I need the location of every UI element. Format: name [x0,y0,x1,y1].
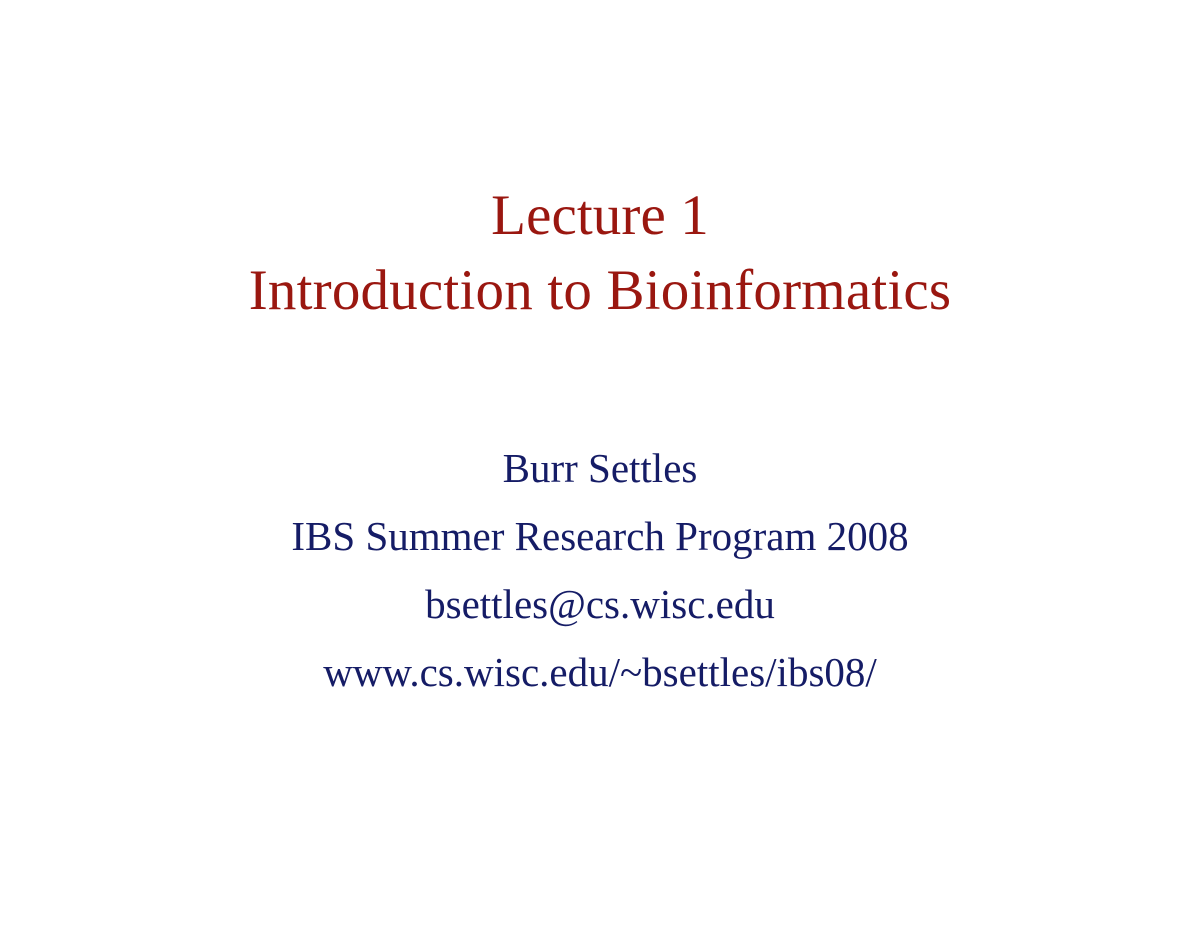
presentation-slide: Lecture 1 Introduction to Bioinformatics… [0,0,1200,927]
slide-body: Burr Settles IBS Summer Research Program… [0,434,1200,706]
title-line-lecture-number: Lecture 1 [0,178,1200,253]
author-email: bsettles@cs.wisc.edu [0,570,1200,638]
title-line-subject: Introduction to Bioinformatics [0,253,1200,328]
program-affiliation: IBS Summer Research Program 2008 [0,502,1200,570]
course-website-url: www.cs.wisc.edu/~bsettles/ibs08/ [0,638,1200,706]
author-name: Burr Settles [0,434,1200,502]
slide-title: Lecture 1 Introduction to Bioinformatics [0,178,1200,328]
